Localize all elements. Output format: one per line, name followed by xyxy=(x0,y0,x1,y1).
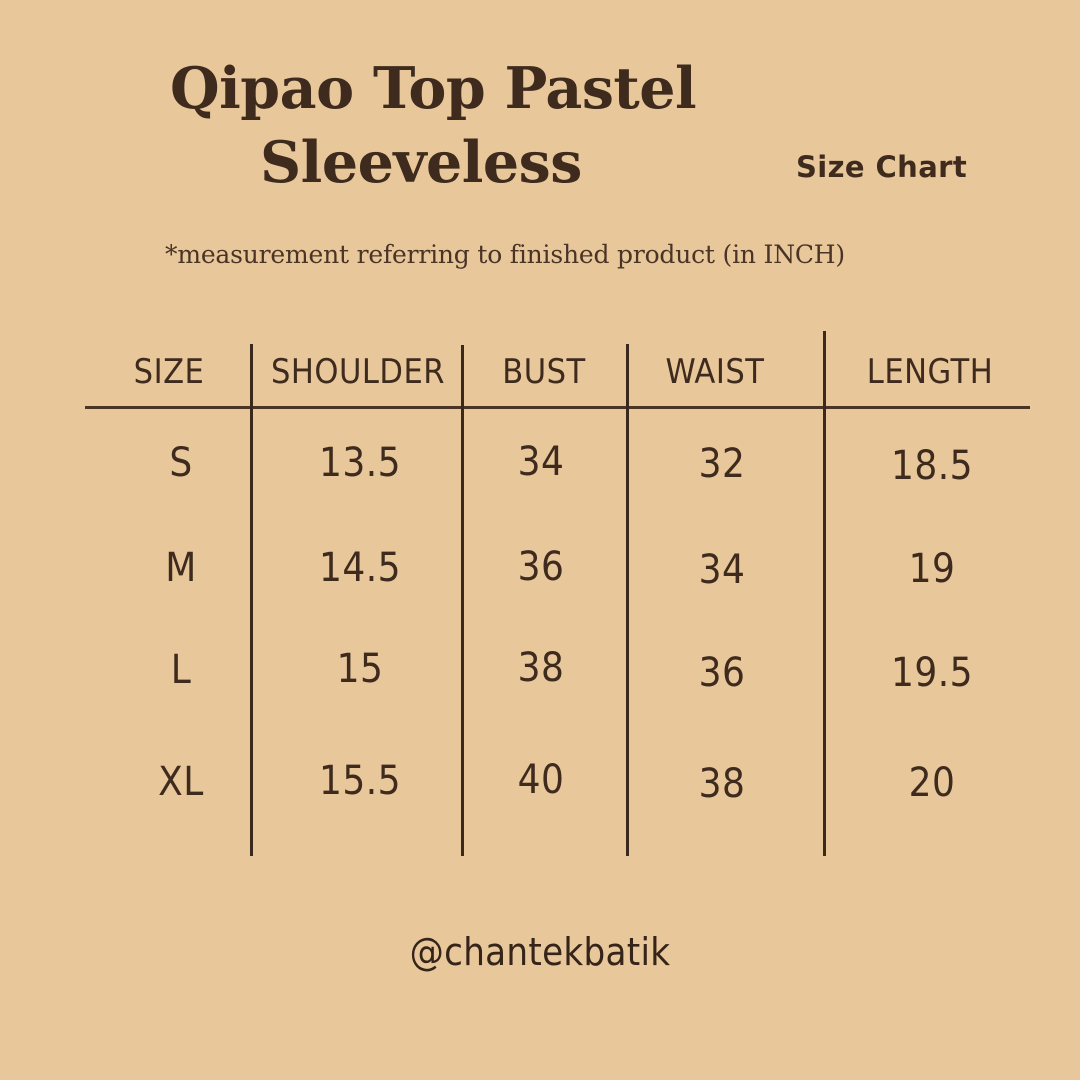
brand-handle: @chantekbatik xyxy=(0,930,1080,974)
table-row: 15.5 xyxy=(319,758,401,804)
table-row: 19 xyxy=(909,546,956,592)
table-row: L xyxy=(171,647,192,693)
table-row: 13.5 xyxy=(319,440,401,486)
table-row: 14.5 xyxy=(319,545,401,591)
column-divider-3 xyxy=(626,344,629,856)
table-row: 15 xyxy=(337,646,384,692)
table-row: S xyxy=(169,440,192,486)
table-row: 19.5 xyxy=(891,650,973,696)
column-header-size: SIZE xyxy=(134,352,205,392)
table-row: 36 xyxy=(699,650,746,696)
table-row: 36 xyxy=(518,544,565,590)
table-row: 34 xyxy=(699,547,746,593)
table-row: 38 xyxy=(518,645,565,691)
table-row: 34 xyxy=(518,439,565,485)
table-row: 38 xyxy=(699,761,746,807)
column-divider-1 xyxy=(250,344,253,856)
table-row: 18.5 xyxy=(891,443,973,489)
column-header-shoulder: SHOULDER xyxy=(271,352,445,392)
header-divider-line xyxy=(85,406,1030,409)
table-row: XL xyxy=(158,759,204,805)
table-row: 20 xyxy=(909,760,956,806)
size-table: SIZE SHOULDER BUST WAIST LENGTH S 13.5 3… xyxy=(0,0,1080,1080)
size-chart-canvas: Qipao Top Pastel Sleeveless Size Chart *… xyxy=(0,0,1080,1080)
column-divider-2 xyxy=(461,345,464,856)
column-header-length: LENGTH xyxy=(867,352,993,392)
column-divider-4 xyxy=(823,331,826,856)
column-header-waist: WAIST xyxy=(666,352,765,392)
table-row: M xyxy=(165,545,197,591)
table-row: 32 xyxy=(699,441,746,487)
table-row: 40 xyxy=(518,757,565,803)
column-header-bust: BUST xyxy=(502,352,585,392)
